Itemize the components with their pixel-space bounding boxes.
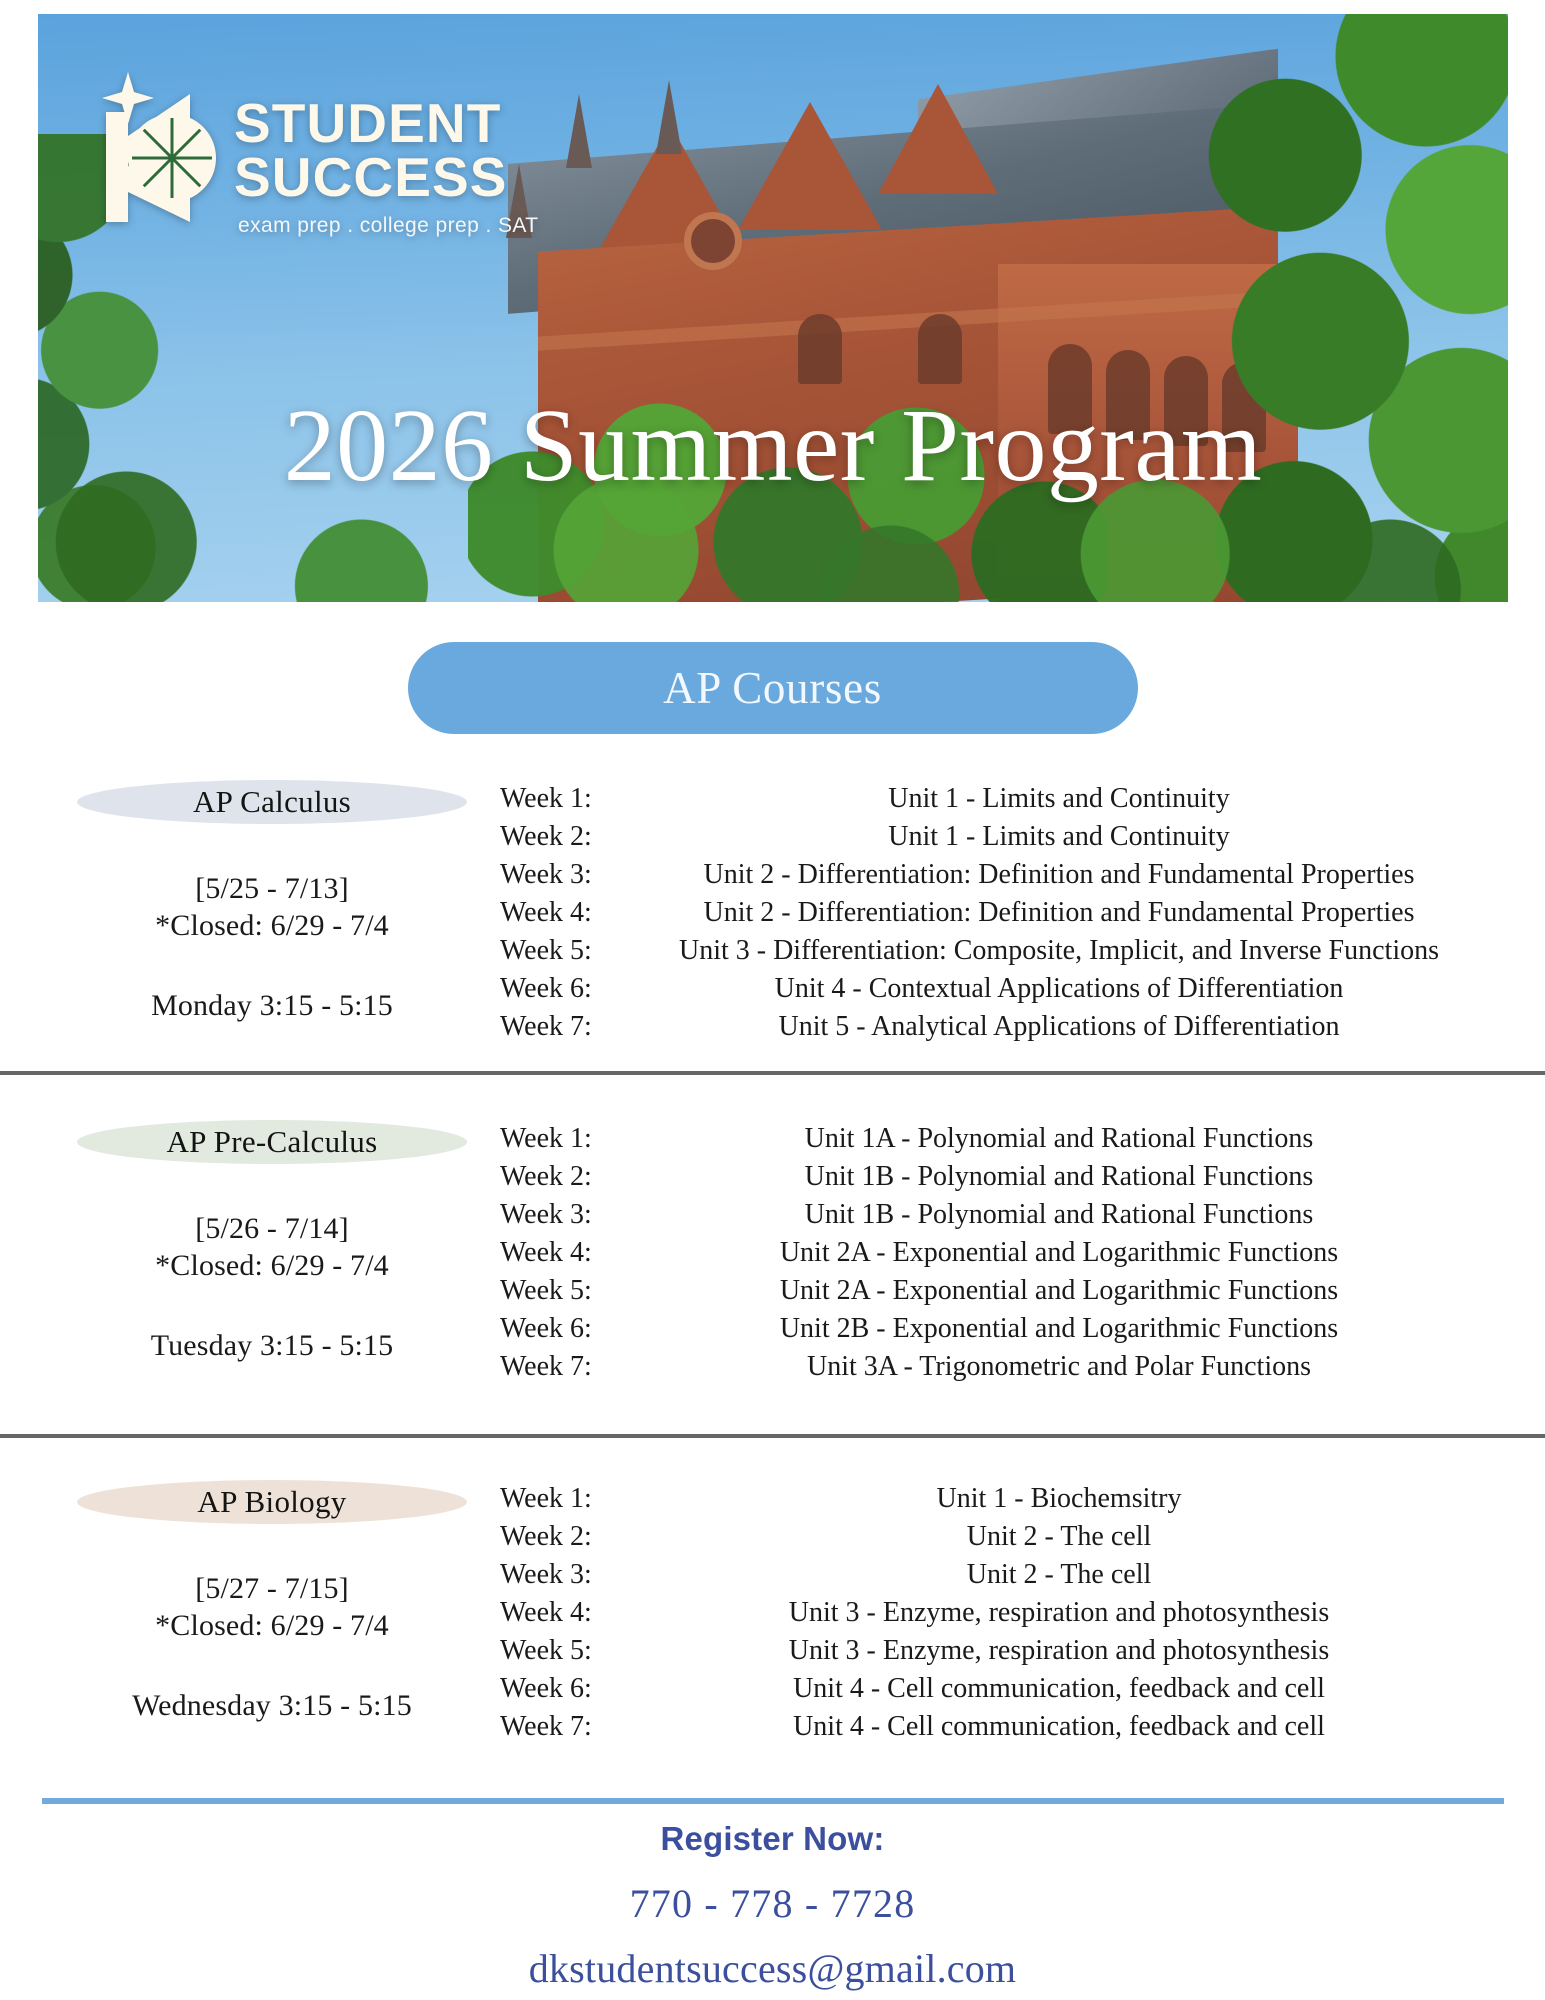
- week-topic: Unit 1 - Limits and Continuity: [618, 780, 1500, 818]
- week-label: Week 4:: [500, 894, 618, 932]
- course-schedule: Wednesday 3:15 - 5:15: [44, 1689, 500, 1723]
- week-topic: Unit 3A - Trigonometric and Polar Functi…: [618, 1348, 1500, 1386]
- week-row: Week 6:Unit 2B - Exponential and Logarit…: [500, 1310, 1500, 1348]
- course-week-list: Week 1:Unit 1 - Biochemsitry Week 2:Unit…: [500, 1480, 1545, 1746]
- course-schedule: Monday 3:15 - 5:15: [44, 989, 500, 1023]
- course-dates-block: [5/26 - 7/14] *Closed: 6/29 - 7/4: [44, 1211, 500, 1285]
- week-row: Week 2:Unit 1B - Polynomial and Rational…: [500, 1158, 1500, 1196]
- week-row: Week 3:Unit 1B - Polynomial and Rational…: [500, 1196, 1500, 1234]
- course-dates-block: [5/25 - 7/13] *Closed: 6/29 - 7/4: [44, 871, 500, 945]
- course-closed-note: *Closed: 6/29 - 7/4: [44, 1608, 500, 1645]
- week-row: Week 6:Unit 4 - Cell communication, feed…: [500, 1670, 1500, 1708]
- course-summary: AP Calculus [5/25 - 7/13] *Closed: 6/29 …: [0, 780, 500, 1023]
- week-topic: Unit 2 - Differentiation: Definition and…: [618, 856, 1500, 894]
- week-label: Week 6:: [500, 1670, 618, 1708]
- week-label: Week 4:: [500, 1594, 618, 1632]
- week-topic: Unit 1B - Polynomial and Rational Functi…: [618, 1196, 1500, 1234]
- week-row: Week 7:Unit 5 - Analytical Applications …: [500, 1008, 1500, 1046]
- footer: Register Now: 770 - 778 - 7728 dkstudent…: [0, 1820, 1545, 1992]
- hero-banner: STUDENT SUCCESS exam prep . college prep…: [38, 14, 1508, 602]
- week-topic: Unit 4 - Cell communication, feedback an…: [618, 1670, 1500, 1708]
- week-label: Week 5:: [500, 1272, 618, 1310]
- week-label: Week 4:: [500, 1234, 618, 1272]
- course-dates: [5/26 - 7/14]: [44, 1211, 500, 1248]
- week-topic: Unit 4 - Contextual Applications of Diff…: [618, 970, 1500, 1008]
- ap-courses-banner: AP Courses: [408, 642, 1138, 734]
- week-label: Week 5:: [500, 1632, 618, 1670]
- week-row: Week 7:Unit 4 - Cell communication, feed…: [500, 1708, 1500, 1746]
- week-topic: Unit 4 - Cell communication, feedback an…: [618, 1708, 1500, 1746]
- dk-aperture-logo-icon: [94, 66, 216, 226]
- week-topic: Unit 1 - Limits and Continuity: [618, 818, 1500, 856]
- brand-name-line2: SUCCESS: [234, 150, 539, 204]
- page-title: 2026 Summer Program: [38, 394, 1508, 498]
- week-row: Week 4:Unit 3 - Enzyme, respiration and …: [500, 1594, 1500, 1632]
- week-label: Week 1:: [500, 780, 618, 818]
- contact-phone[interactable]: 770 - 778 - 7728: [0, 1880, 1545, 1927]
- week-topic: Unit 3 - Differentiation: Composite, Imp…: [618, 932, 1500, 970]
- course-section-ap-biology: AP Biology [5/27 - 7/15] *Closed: 6/29 -…: [0, 1480, 1545, 1746]
- gable-shape: [878, 84, 998, 194]
- week-topic: Unit 2A - Exponential and Logarithmic Fu…: [618, 1272, 1500, 1310]
- week-label: Week 6:: [500, 1310, 618, 1348]
- week-label: Week 3:: [500, 856, 618, 894]
- course-week-list: Week 1:Unit 1 - Limits and Continuity We…: [500, 780, 1545, 1046]
- footer-divider: [42, 1798, 1504, 1804]
- course-schedule: Tuesday 3:15 - 5:15: [44, 1329, 500, 1363]
- course-section-ap-calculus: AP Calculus [5/25 - 7/13] *Closed: 6/29 …: [0, 780, 1545, 1046]
- week-label: Week 6:: [500, 970, 618, 1008]
- week-topic: Unit 2 - The cell: [618, 1518, 1500, 1556]
- course-week-list: Week 1:Unit 1A - Polynomial and Rational…: [500, 1120, 1545, 1386]
- section-divider: [0, 1071, 1545, 1075]
- week-label: Week 3:: [500, 1196, 618, 1234]
- week-row: Week 2:Unit 2 - The cell: [500, 1518, 1500, 1556]
- week-row: Week 4:Unit 2 - Differentiation: Definit…: [500, 894, 1500, 932]
- week-topic: Unit 1 - Biochemsitry: [618, 1480, 1500, 1518]
- week-row: Week 5:Unit 2A - Exponential and Logarit…: [500, 1272, 1500, 1310]
- week-label: Week 5:: [500, 932, 618, 970]
- course-name-pill-ap-calculus: AP Calculus: [77, 780, 467, 824]
- week-label: Week 2:: [500, 1518, 618, 1556]
- week-row: Week 1:Unit 1 - Biochemsitry: [500, 1480, 1500, 1518]
- week-label: Week 3:: [500, 1556, 618, 1594]
- course-closed-note: *Closed: 6/29 - 7/4: [44, 1248, 500, 1285]
- week-row: Week 1:Unit 1 - Limits and Continuity: [500, 780, 1500, 818]
- week-topic: Unit 1B - Polynomial and Rational Functi…: [618, 1158, 1500, 1196]
- week-topic: Unit 3 - Enzyme, respiration and photosy…: [618, 1632, 1500, 1670]
- week-topic: Unit 2B - Exponential and Logarithmic Fu…: [618, 1310, 1500, 1348]
- course-dates-block: [5/27 - 7/15] *Closed: 6/29 - 7/4: [44, 1571, 500, 1645]
- week-topic: Unit 2 - The cell: [618, 1556, 1500, 1594]
- brand-name-line1: STUDENT: [234, 96, 539, 150]
- course-dates: [5/27 - 7/15]: [44, 1571, 500, 1608]
- week-row: Week 7:Unit 3A - Trigonometric and Polar…: [500, 1348, 1500, 1386]
- week-row: Week 3:Unit 2 - The cell: [500, 1556, 1500, 1594]
- course-name-pill-ap-biology: AP Biology: [77, 1480, 467, 1524]
- week-label: Week 1:: [500, 1480, 618, 1518]
- week-topic: Unit 2 - Differentiation: Definition and…: [618, 894, 1500, 932]
- course-summary: AP Biology [5/27 - 7/15] *Closed: 6/29 -…: [0, 1480, 500, 1723]
- week-row: Week 2:Unit 1 - Limits and Continuity: [500, 818, 1500, 856]
- course-name-pill-ap-pre-calculus: AP Pre-Calculus: [77, 1120, 467, 1164]
- week-label: Week 1:: [500, 1120, 618, 1158]
- section-divider: [0, 1434, 1545, 1438]
- week-label: Week 7:: [500, 1008, 618, 1046]
- contact-email[interactable]: dkstudentsuccess@gmail.com: [0, 1945, 1545, 1992]
- week-row: Week 5:Unit 3 - Differentiation: Composi…: [500, 932, 1500, 970]
- week-row: Week 6:Unit 4 - Contextual Applications …: [500, 970, 1500, 1008]
- week-row: Week 3:Unit 2 - Differentiation: Definit…: [500, 856, 1500, 894]
- week-label: Week 7:: [500, 1348, 618, 1386]
- week-row: Week 4:Unit 2A - Exponential and Logarit…: [500, 1234, 1500, 1272]
- week-row: Week 1:Unit 1A - Polynomial and Rational…: [500, 1120, 1500, 1158]
- week-topic: Unit 1A - Polynomial and Rational Functi…: [618, 1120, 1500, 1158]
- course-closed-note: *Closed: 6/29 - 7/4: [44, 908, 500, 945]
- brand-tagline: exam prep . college prep . SAT: [234, 214, 539, 238]
- week-topic: Unit 5 - Analytical Applications of Diff…: [618, 1008, 1500, 1046]
- register-now-label: Register Now:: [0, 1820, 1545, 1858]
- week-label: Week 2:: [500, 818, 618, 856]
- week-topic: Unit 3 - Enzyme, respiration and photosy…: [618, 1594, 1500, 1632]
- week-label: Week 2:: [500, 1158, 618, 1196]
- course-section-ap-pre-calculus: AP Pre-Calculus [5/26 - 7/14] *Closed: 6…: [0, 1120, 1545, 1386]
- course-dates: [5/25 - 7/13]: [44, 871, 500, 908]
- week-topic: Unit 2A - Exponential and Logarithmic Fu…: [618, 1234, 1500, 1272]
- ap-courses-banner-label: AP Courses: [663, 662, 882, 714]
- brand-logo: STUDENT SUCCESS exam prep . college prep…: [94, 66, 539, 238]
- course-summary: AP Pre-Calculus [5/26 - 7/14] *Closed: 6…: [0, 1120, 500, 1363]
- week-label: Week 7:: [500, 1708, 618, 1746]
- week-row: Week 5:Unit 3 - Enzyme, respiration and …: [500, 1632, 1500, 1670]
